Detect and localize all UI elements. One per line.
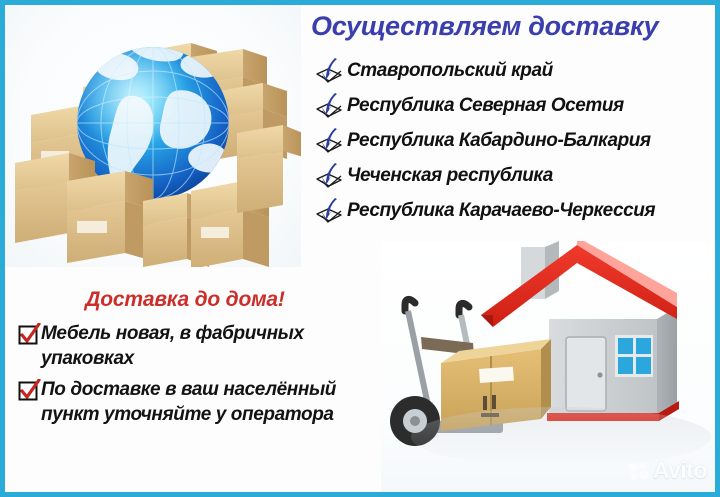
region-label: Чеченская республика [347,165,553,187]
check-arrow-icon [311,91,345,121]
promo-item-text: Мебель новая, в фабричных упаковках [41,321,377,371]
delivery-advert-banner: Осуществляем доставку Ставропольский кра… [0,0,720,497]
region-label: Республика Кабардино-Балкария [347,130,651,152]
list-item: По доставке в ваш населённый пункт уточн… [17,377,377,427]
list-item: Чеченская республика [311,158,720,193]
parcel-box [67,171,153,263]
check-arrow-icon [311,126,345,156]
list-item: Мебель новая, в фабричных упаковках [17,321,377,371]
globe-with-boxes-image [5,5,301,267]
region-label: Республика Карачаево-Черкессия [347,200,655,222]
house-delivery-illustration [381,241,719,496]
list-item: Республика Кабардино-Балкария [311,123,720,158]
page-title: Осуществляем доставку [311,11,715,42]
promo-item-text: По доставке в ваш населённый пункт уточн… [41,377,377,427]
region-label: Республика Северная Осетия [347,95,624,117]
parcel-box [237,125,301,213]
check-arrow-icon [311,56,345,86]
delivery-regions-list: Ставропольский край Республика Северная … [311,53,720,228]
region-label: Ставропольский край [347,60,553,82]
list-item: Республика Карачаево-Черкессия [311,193,720,228]
list-item: Ставропольский край [311,53,720,88]
promo-list: Мебель новая, в фабричных упаковках По д… [17,321,377,433]
red-checkbox-icon [17,379,41,403]
banner-canvas: Осуществляем доставку Ставропольский кра… [5,5,715,492]
promo-heading: Доставка до дома! [5,288,365,312]
list-item: Республика Северная Осетия [311,88,720,123]
check-arrow-icon [311,196,345,226]
red-checkbox-icon [17,323,41,347]
check-arrow-icon [311,161,345,191]
